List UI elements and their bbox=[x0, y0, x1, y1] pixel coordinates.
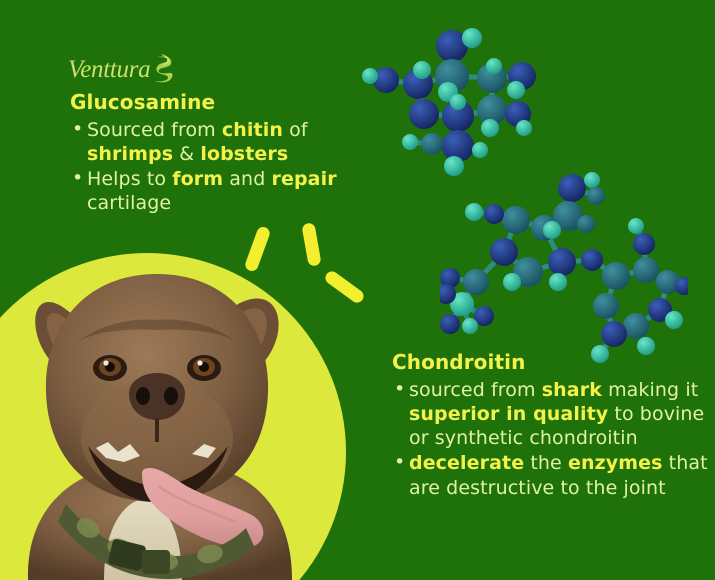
bullet-item: sourced from shark making it superior in… bbox=[392, 378, 710, 450]
bold-term: shrimps bbox=[87, 143, 173, 165]
dog-photo bbox=[0, 246, 322, 580]
bold-term: lobsters bbox=[200, 143, 288, 165]
bold-term: superior in quality bbox=[409, 403, 608, 425]
heading-glucosamine: Glucosamine bbox=[70, 90, 390, 115]
bullet-item: Helps to form and repair cartilage bbox=[70, 167, 390, 215]
bold-term: shark bbox=[542, 379, 602, 401]
bold-term: chitin bbox=[222, 119, 283, 141]
brand-name: Venttura bbox=[68, 57, 150, 82]
bold-term: decelerate bbox=[409, 452, 524, 474]
text-run: the bbox=[524, 452, 568, 474]
bullet-item: Sourced from chitin of shrimps & lobster… bbox=[70, 118, 390, 166]
leaf-ribbon-icon bbox=[153, 54, 175, 84]
text-run: cartilage bbox=[87, 192, 171, 214]
text-run: sourced from bbox=[409, 379, 542, 401]
text-run: & bbox=[173, 143, 200, 165]
bold-term: repair bbox=[272, 168, 337, 190]
text-run: Sourced from bbox=[87, 119, 222, 141]
bullet-list-chondroitin: sourced from shark making it superior in… bbox=[392, 378, 710, 500]
brand-logo: Venttura bbox=[68, 52, 203, 86]
bullet-list-glucosamine: Sourced from chitin of shrimps & lobster… bbox=[70, 118, 390, 216]
text-run: making it bbox=[602, 379, 698, 401]
text-run: and bbox=[223, 168, 271, 190]
section-glucosamine: Glucosamine Sourced from chitin of shrim… bbox=[70, 90, 390, 217]
infographic-poster: Venttura bbox=[0, 0, 715, 580]
bullet-item: decelerate the enzymes that are destruct… bbox=[392, 451, 710, 499]
sparkle-dash-3 bbox=[323, 269, 366, 305]
bold-term: enzymes bbox=[568, 452, 663, 474]
heading-chondroitin: Chondroitin bbox=[392, 350, 710, 375]
text-run: of bbox=[283, 119, 308, 141]
section-chondroitin: Chondroitin sourced from shark making it… bbox=[392, 350, 710, 501]
chondroitin-molecule-model bbox=[440, 158, 688, 363]
bold-term: form bbox=[172, 168, 223, 190]
text-run: Helps to bbox=[87, 168, 172, 190]
